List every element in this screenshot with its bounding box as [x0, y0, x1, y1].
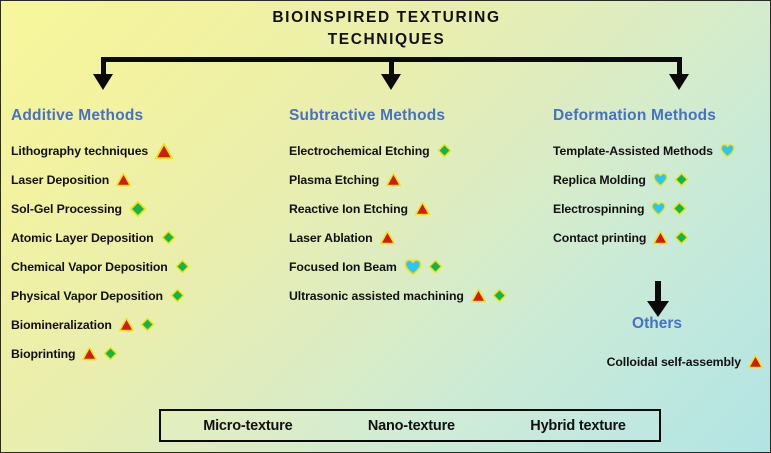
- arrow-down-icon-additive: [93, 74, 113, 90]
- marker-group: [653, 230, 689, 245]
- bracket-stem-deformation: [677, 57, 682, 75]
- marker-group: [161, 230, 176, 245]
- method-row[interactable]: Replica Molding: [553, 165, 768, 194]
- marker-group: [653, 172, 689, 187]
- method-row[interactable]: Focused Ion Beam: [289, 252, 551, 281]
- column-heading-subtractive: Subtractive Methods: [289, 107, 551, 125]
- bracket-stem-subtractive: [389, 57, 394, 75]
- method-row[interactable]: Plasma Etching: [289, 165, 551, 194]
- method-label: Bioprinting: [11, 347, 75, 361]
- method-row[interactable]: Physical Vapor Deposition: [11, 281, 281, 310]
- nano-texture-diamond-icon: [437, 143, 452, 158]
- legend-label-hybrid: Hybrid texture: [530, 418, 626, 434]
- nano-texture-diamond-icon: [161, 230, 176, 245]
- marker-group: [748, 354, 763, 369]
- legend-label-nano: Nano-texture: [368, 418, 455, 434]
- bracket-stem-additive: [101, 57, 106, 75]
- method-label: Sol-Gel Processing: [11, 202, 122, 216]
- arrow-down-icon-subtractive: [381, 74, 401, 90]
- hybrid-texture-heart-icon: [720, 143, 735, 158]
- method-label: Plasma Etching: [289, 173, 379, 187]
- method-list-additive: Lithography techniquesLaser DepositionSo…: [11, 136, 281, 368]
- column-additive-methods: Additive Methods Lithography techniquesL…: [11, 107, 281, 368]
- marker-group: [116, 172, 131, 187]
- arrow-down-icon-deformation: [669, 74, 689, 90]
- method-row[interactable]: Chemical Vapor Deposition: [11, 252, 281, 281]
- method-label: Colloidal self-assembly: [607, 355, 741, 369]
- method-list-subtractive: Electrochemical EtchingPlasma EtchingRea…: [289, 136, 551, 310]
- micro-texture-triangle-icon: [415, 201, 430, 216]
- title-line-1: BIOINSPIRED TEXTURING: [1, 7, 771, 29]
- method-label: Ultrasonic assisted machining: [289, 289, 464, 303]
- method-label: Template-Assisted Methods: [553, 144, 713, 158]
- nano-texture-diamond-icon: [175, 259, 190, 274]
- micro-texture-triangle-icon: [386, 172, 401, 187]
- micro-texture-triangle-icon: [471, 288, 486, 303]
- legend: Micro-texture Nano-texture Hybrid textur…: [159, 409, 661, 442]
- marker-group: [175, 259, 190, 274]
- method-row[interactable]: Colloidal self-assembly: [607, 347, 763, 376]
- method-label: Atomic Layer Deposition: [11, 231, 154, 245]
- method-label: Physical Vapor Deposition: [11, 289, 163, 303]
- hybrid-texture-heart-icon: [404, 258, 422, 276]
- nano-texture-diamond-icon: [428, 259, 443, 274]
- infographic-canvas: BIOINSPIRED TEXTURING TECHNIQUES Additiv…: [0, 0, 771, 453]
- marker-group: [155, 142, 173, 160]
- micro-texture-triangle-icon: [82, 346, 97, 361]
- method-list-others: Colloidal self-assembly: [501, 347, 763, 376]
- method-label: Chemical Vapor Deposition: [11, 260, 168, 274]
- method-row[interactable]: Lithography techniques: [11, 136, 281, 165]
- method-list-deformation: Template-Assisted MethodsReplica Molding…: [553, 136, 768, 252]
- nano-texture-diamond-icon: [170, 288, 185, 303]
- column-heading-deformation: Deformation Methods: [553, 107, 768, 125]
- marker-group: [129, 200, 147, 218]
- micro-texture-triangle-icon: [653, 230, 668, 245]
- method-row[interactable]: Contact printing: [553, 223, 768, 252]
- hybrid-texture-heart-icon: [653, 172, 668, 187]
- marker-group: [404, 258, 443, 276]
- method-label: Electrochemical Etching: [289, 144, 430, 158]
- nano-texture-diamond-icon: [674, 172, 689, 187]
- method-label: Biomineralization: [11, 318, 112, 332]
- method-row[interactable]: Electrospinning: [553, 194, 768, 223]
- column-subtractive-methods: Subtractive Methods Electrochemical Etch…: [289, 107, 551, 310]
- nano-texture-diamond-icon: [492, 288, 507, 303]
- marker-group: [471, 288, 507, 303]
- method-label: Contact printing: [553, 231, 646, 245]
- marker-group: [82, 346, 118, 361]
- micro-texture-triangle-icon: [380, 230, 395, 245]
- micro-texture-triangle-icon: [116, 172, 131, 187]
- method-row[interactable]: Ultrasonic assisted machining: [289, 281, 551, 310]
- marker-group: [651, 201, 687, 216]
- method-label: Replica Molding: [553, 173, 646, 187]
- method-row[interactable]: Template-Assisted Methods: [553, 136, 768, 165]
- column-heading-others: Others: [597, 315, 717, 333]
- micro-texture-triangle-icon: [748, 354, 763, 369]
- method-label: Electrospinning: [553, 202, 644, 216]
- nano-texture-diamond-icon: [103, 346, 118, 361]
- others-arrow-shaft: [655, 281, 661, 303]
- page-title: BIOINSPIRED TEXTURING TECHNIQUES: [1, 7, 771, 51]
- micro-texture-triangle-icon: [119, 317, 134, 332]
- method-row[interactable]: Reactive Ion Etching: [289, 194, 551, 223]
- legend-item-hybrid-texture: Hybrid texture: [521, 418, 626, 434]
- method-row[interactable]: Sol-Gel Processing: [11, 194, 281, 223]
- method-row[interactable]: Laser Ablation: [289, 223, 551, 252]
- nano-texture-diamond-icon: [129, 200, 147, 218]
- marker-group: [437, 143, 452, 158]
- title-line-2: TECHNIQUES: [1, 29, 771, 51]
- method-row[interactable]: Laser Deposition: [11, 165, 281, 194]
- legend-label-micro: Micro-texture: [203, 418, 292, 434]
- nano-texture-diamond-icon: [140, 317, 155, 332]
- nano-texture-diamond-icon: [672, 201, 687, 216]
- nano-texture-diamond-icon: [674, 230, 689, 245]
- marker-group: [386, 172, 401, 187]
- method-label: Reactive Ion Etching: [289, 202, 408, 216]
- legend-item-nano-texture: Nano-texture: [359, 418, 455, 434]
- method-row[interactable]: Bioprinting: [11, 339, 281, 368]
- method-row[interactable]: Electrochemical Etching: [289, 136, 551, 165]
- marker-group: [720, 143, 735, 158]
- marker-group: [119, 317, 155, 332]
- method-row[interactable]: Biomineralization: [11, 310, 281, 339]
- marker-group: [415, 201, 430, 216]
- column-heading-additive: Additive Methods: [11, 107, 281, 125]
- legend-item-micro-texture: Micro-texture: [194, 418, 292, 434]
- column-deformation-methods: Deformation Methods Template-Assisted Me…: [553, 107, 768, 252]
- method-label: Laser Ablation: [289, 231, 373, 245]
- hybrid-texture-heart-icon: [651, 201, 666, 216]
- micro-texture-triangle-icon: [155, 142, 173, 160]
- method-label: Lithography techniques: [11, 144, 148, 158]
- marker-group: [170, 288, 185, 303]
- method-label: Laser Deposition: [11, 173, 109, 187]
- marker-group: [380, 230, 395, 245]
- method-row[interactable]: Atomic Layer Deposition: [11, 223, 281, 252]
- method-label: Focused Ion Beam: [289, 260, 397, 274]
